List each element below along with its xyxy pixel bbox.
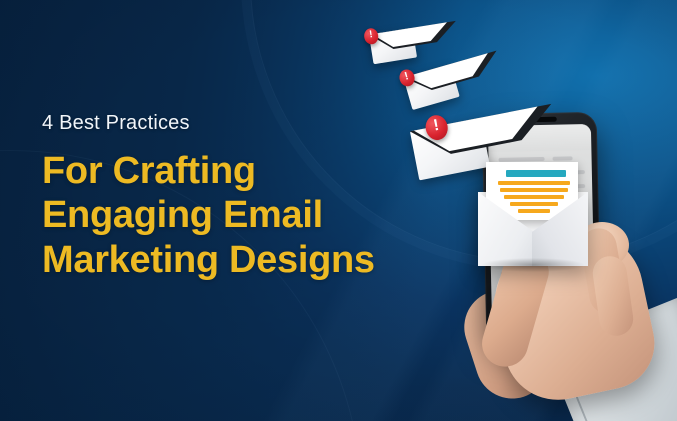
headline-line-3: Marketing Designs — [42, 238, 442, 282]
headline-block: 4 Best Practices For Crafting Engaging E… — [42, 113, 442, 282]
email-marketing-banner: ! ! ! — [0, 0, 677, 421]
eyebrow-text: 4 Best Practices — [42, 113, 442, 133]
page-title: For Crafting Engaging Email Marketing De… — [42, 149, 442, 282]
headline-line-2: Engaging Email — [42, 193, 442, 237]
headline-line-1: For Crafting — [42, 149, 442, 193]
